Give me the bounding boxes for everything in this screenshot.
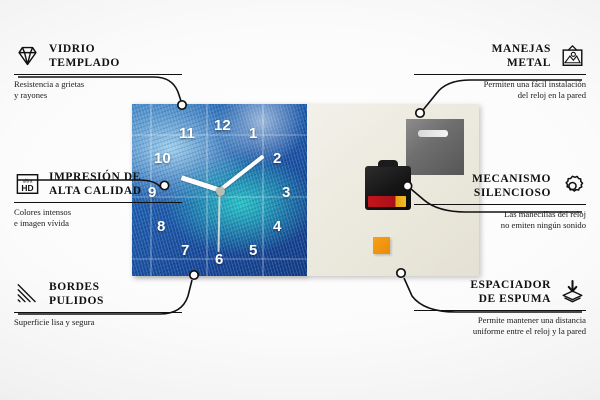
- clock-numeral-10: 10: [154, 151, 171, 166]
- feature-mecanismo-silencioso[interactable]: MECANISMO SILENCIOSO Las manecillas del …: [414, 172, 586, 232]
- clock-numeral-6: 6: [215, 252, 223, 267]
- picture-frame-hook-icon: [559, 43, 586, 69]
- feature-mecanismo-rule: [414, 204, 586, 206]
- feature-impresion-alta-calidad[interactable]: ultra HD IMPRESIÓN DE ALTA CALIDAD Color…: [14, 170, 182, 230]
- feature-manejas-header: MANEJAS METAL: [414, 42, 586, 70]
- feature-bordes-title: BORDES PULIDOS: [49, 280, 104, 308]
- clock-numeral-2: 2: [273, 151, 281, 166]
- clock-numeral-7: 7: [181, 243, 189, 258]
- hanger-slot: [418, 130, 448, 137]
- clock-mechanism: [365, 166, 411, 210]
- battery: [368, 196, 406, 207]
- feature-espaciador-espuma[interactable]: ESPACIADOR DE ESPUMA Permite mantener un…: [414, 278, 586, 338]
- feature-impresion-header: ultra HD IMPRESIÓN DE ALTA CALIDAD: [14, 170, 182, 198]
- clock-numeral-3: 3: [282, 185, 290, 200]
- infographic-canvas: 12 1 2 3 4 5 6 7 8 9 10 11: [0, 0, 600, 400]
- feature-mecanismo-header: MECANISMO SILENCIOSO: [414, 172, 586, 200]
- feature-bordes-desc: Superficie lisa y segura: [14, 317, 182, 328]
- clock-numeral-5: 5: [249, 243, 257, 258]
- feature-vidrio-rule: [14, 74, 182, 76]
- arrow-stack-icon: [559, 279, 586, 305]
- feature-espuma-header: ESPACIADOR DE ESPUMA: [414, 278, 586, 306]
- diamond-icon: [14, 43, 41, 69]
- feature-bordes-header: BORDES PULIDOS: [14, 280, 182, 308]
- feature-mecanismo-desc: Las manecillas del reloj no emiten ningú…: [414, 209, 586, 232]
- mechanism-tab: [378, 160, 398, 167]
- feature-impresion-rule: [14, 202, 182, 204]
- metal-hanger-plate: [406, 119, 464, 175]
- feature-espuma-rule: [414, 310, 586, 312]
- feature-impresion-title: IMPRESIÓN DE ALTA CALIDAD: [49, 170, 142, 198]
- clock-hour-hand: [181, 175, 221, 192]
- feature-mecanismo-title: MECANISMO SILENCIOSO: [472, 172, 551, 200]
- clock-second-hand: [218, 190, 221, 252]
- clock-numeral-11: 11: [179, 126, 195, 141]
- feature-manejas-title: MANEJAS METAL: [492, 42, 551, 70]
- feature-impresion-desc: Colores intensos e imagen vívida: [14, 207, 182, 230]
- gear-icon: [559, 173, 586, 199]
- feature-manejas-metal[interactable]: MANEJAS METAL Permiten una fácil instala…: [414, 42, 586, 102]
- feature-manejas-desc: Permiten una fácil instalación del reloj…: [414, 79, 586, 102]
- foam-spacer: [373, 237, 390, 254]
- clock-numeral-1: 1: [249, 126, 257, 141]
- feature-bordes-pulidos[interactable]: BORDES PULIDOS Superficie lisa y segura: [14, 280, 182, 328]
- feature-espuma-desc: Permite mantener una distancia uniforme …: [414, 315, 586, 338]
- clock-numeral-12: 12: [214, 118, 231, 133]
- clock-minute-hand: [219, 155, 265, 192]
- feature-vidrio-header: VIDRIO TEMPLADO: [14, 42, 182, 70]
- ultra-hd-icon: ultra HD: [14, 171, 41, 197]
- feature-vidrio-title: VIDRIO TEMPLADO: [49, 42, 120, 70]
- feature-espuma-title: ESPACIADOR DE ESPUMA: [470, 278, 551, 306]
- feature-vidrio-desc: Resistencia a grietas y rayones: [14, 79, 182, 102]
- svg-text:HD: HD: [21, 183, 33, 193]
- clock-numeral-4: 4: [273, 219, 281, 234]
- clock-center-hub: [216, 187, 225, 196]
- feature-vidrio-templado[interactable]: VIDRIO TEMPLADO Resistencia a grietas y …: [14, 42, 182, 102]
- beveled-edge-icon: [14, 281, 41, 307]
- feature-manejas-rule: [414, 74, 586, 76]
- feature-bordes-rule: [14, 312, 182, 314]
